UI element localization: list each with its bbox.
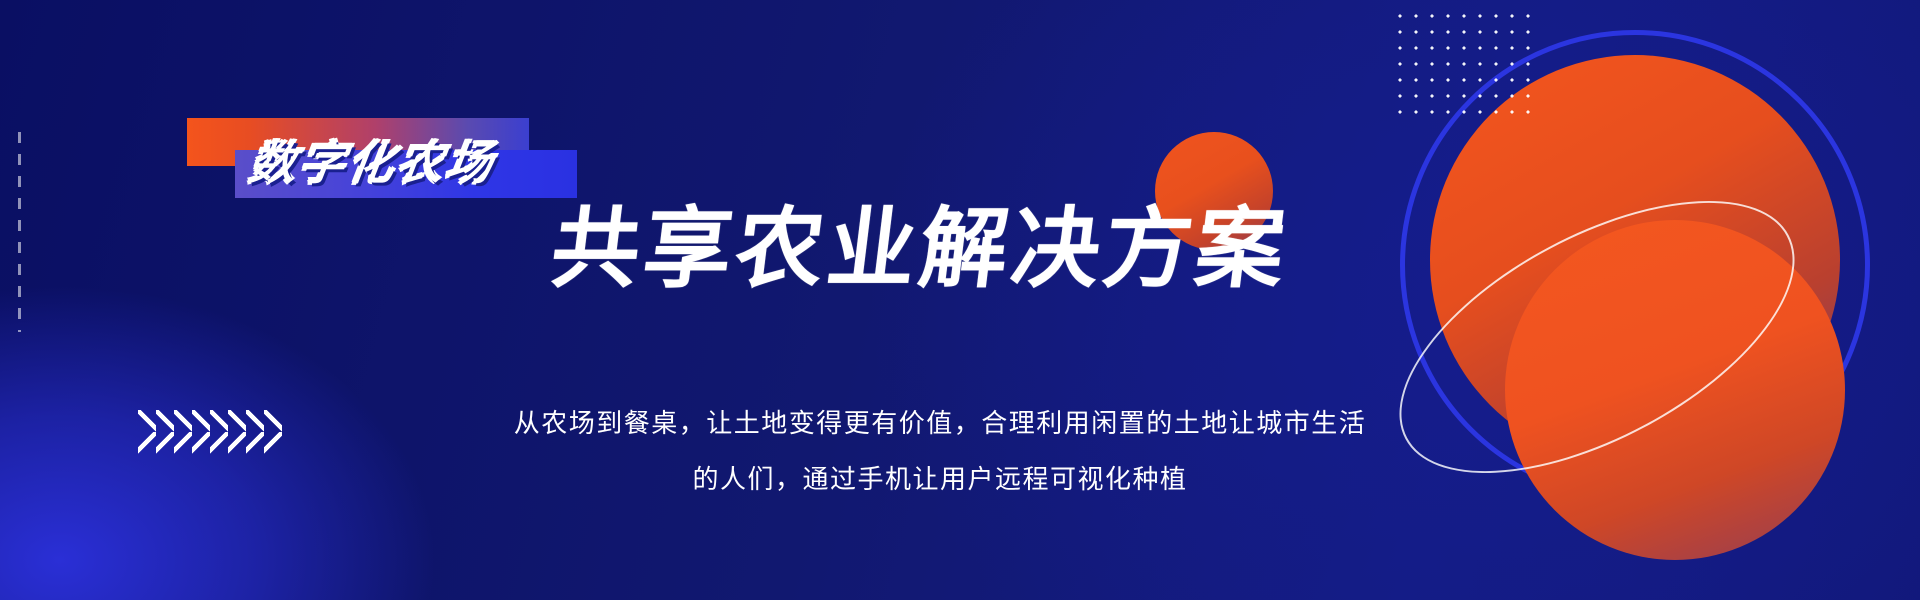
- dot-grid-icon: [1392, 8, 1538, 118]
- chevron-icon: [210, 410, 228, 454]
- page-title: 共享农业解决方案: [546, 200, 1294, 299]
- subtitle-line-1: 从农场到餐桌，让土地变得更有价值，合理利用闲置的土地让城市生活: [360, 395, 1520, 451]
- chevron-icon: [174, 410, 192, 454]
- chevron-icon: [192, 410, 210, 454]
- chevron-icon: [228, 410, 246, 454]
- vertical-dotted-line-icon: [18, 132, 21, 332]
- subtitle-line-2: 的人们，通过手机让用户远程可视化种植: [360, 451, 1520, 507]
- category-tag: 数字化农场: [187, 118, 587, 196]
- chevron-icon: [246, 410, 264, 454]
- subtitle: 从农场到餐桌，让土地变得更有价值，合理利用闲置的土地让城市生活 的人们，通过手机…: [360, 395, 1520, 507]
- chevron-icon: [156, 410, 174, 454]
- chevron-icon: [264, 410, 282, 454]
- hero-banner: 数字化农场 共享农业解决方案 从农场到餐桌，让土地变得更有价值，合理利用闲置的土…: [0, 0, 1920, 600]
- chevron-arrows-icon: [138, 410, 282, 454]
- tag-label: 数字化农场: [247, 140, 583, 186]
- chevron-icon: [138, 410, 156, 454]
